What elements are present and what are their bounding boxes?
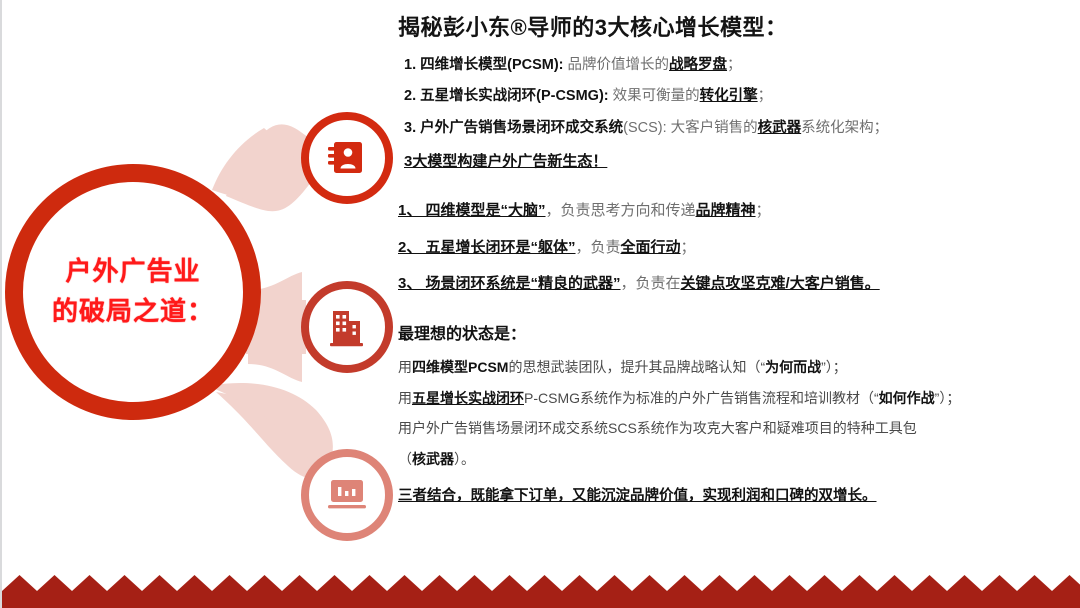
model-2-rest-a: 效果可衡量的 <box>609 88 700 104</box>
node-1-group <box>305 116 389 200</box>
final-statement: 三者结合，既能拿下订单，又能沉淀品牌价值，实现利润和口碑的双增长。 <box>398 484 877 505</box>
role-1-tail: ； <box>756 202 771 219</box>
ideal-2-p3: ”）； <box>935 390 961 406</box>
model-3-highlight: 核武器 <box>758 120 802 136</box>
hub-label: 户外广告业 的破局之道： <box>28 252 238 331</box>
scs-line-1: 用户外广告销售场景闭环成交系统SCS系统作为攻克大客户和疑难项目的特种工具包 <box>398 419 1070 439</box>
model-1-rest-a: 品牌价值增长的 <box>564 57 670 73</box>
role-1-mid: ，负责思考方向和传递 <box>546 202 696 219</box>
model-3-rest-b: 系统化架构； <box>801 120 888 136</box>
ideal-2-p1: 用 <box>398 390 412 406</box>
model-3-rest-a: : 大客户销售的 <box>663 120 758 136</box>
role-2-tail: ； <box>681 239 696 256</box>
ideal-1-p1: 用 <box>398 359 412 375</box>
role-2-lead: 2、 五星增长闭环是“躯体” <box>398 239 576 256</box>
model-item-1: 1. 四维增长模型(PCSM): 品牌价值增长的战略罗盘； <box>398 56 1070 76</box>
scs-2-post: ）。 <box>454 451 475 467</box>
ideal-2-p2: P-CSMG系统作为标准的户外广告销售流程和培训教材（“ <box>524 390 879 406</box>
ideal-line-1: 用四维模型PCSM的思想武装团队，提升其品牌战略认知（“为何而战”）； <box>398 358 1070 378</box>
role-3-mid: ，负责在 <box>621 275 681 292</box>
hub-label-line1: 户外广告业 <box>28 252 238 292</box>
ideal-state-title: 最理想的状态是： <box>398 320 1070 344</box>
role-3-lead: 3、 场景闭环系统是“精良的武器” <box>398 275 621 292</box>
scs-2-bold: 核武器 <box>412 451 454 467</box>
zigzag-fill <box>2 566 1080 608</box>
role-2-mid: ，负责 <box>576 239 621 256</box>
node-3-group <box>305 453 389 537</box>
role-item-2: 2、 五星增长闭环是“躯体”，负责全面行动； <box>398 238 1070 258</box>
diagram-graphic: 户外广告业 的破局之道： <box>2 0 402 580</box>
model-2-rest-b: ； <box>758 88 773 104</box>
role-item-3: 3、 场景闭环系统是“精良的武器”，负责在关键点攻坚克难/大客户销售。 <box>398 274 1070 294</box>
ideal-1-p3: ”）； <box>821 359 847 375</box>
role-item-1: 1、 四维模型是“大脑”，负责思考方向和传递品牌精神； <box>398 201 1070 221</box>
model-3-lead-tail: (SCS) <box>623 120 662 136</box>
model-item-3: 3. 户外广告销售场景闭环成交系统(SCS): 大客户销售的核武器系统化架构； <box>398 119 1070 139</box>
model-2-lead: 2. 五星增长实战闭环(P-CSMG): <box>404 88 609 104</box>
page-title: 揭秘彭小东®导师的3大核心增长模型： <box>398 14 1070 43</box>
ideal-1-s1: 四维模型PCSM <box>412 359 508 375</box>
role-1-lead: 1、 四维模型是“大脑” <box>398 202 546 219</box>
tagline: 3大模型构建户外广告新生态！ <box>398 150 607 171</box>
hub-label-line2: 的破局之道： <box>28 292 238 332</box>
zigzag-border <box>2 566 1080 608</box>
ideal-1-p2: 的思想武装团队，提升其品牌战略认知（“ <box>508 359 765 375</box>
model-1-rest-b: ； <box>727 57 742 73</box>
model-2-highlight: 转化引擎 <box>700 88 758 104</box>
model-3-lead: 3. 户外广告销售场景闭环成交系统 <box>404 120 623 136</box>
content-column: 揭秘彭小东®导师的3大核心增长模型： 1. 四维增长模型(PCSM): 品牌价值… <box>398 14 1070 505</box>
role-1-highlight: 品牌精神 <box>696 202 756 219</box>
ideal-2-s2: 如何作战 <box>879 390 935 406</box>
node-2-group <box>305 285 389 369</box>
role-3-highlight: 关键点攻坚克难/大客户销售。 <box>681 275 880 292</box>
role-2-highlight: 全面行动 <box>621 239 681 256</box>
scs-line-2: （核武器）。 <box>398 450 1070 470</box>
ideal-1-s2: 为何而战 <box>765 359 821 375</box>
model-1-lead: 1. 四维增长模型(PCSM): <box>404 57 564 73</box>
ideal-line-2: 用五星增长实战闭环P-CSMG系统作为标准的户外广告销售流程和培训教材（“如何作… <box>398 389 1070 409</box>
model-item-2: 2. 五星增长实战闭环(P-CSMG): 效果可衡量的转化引擎； <box>398 87 1070 107</box>
ideal-2-s1: 五星增长实战闭环 <box>412 390 524 406</box>
model-1-highlight: 战略罗盘 <box>669 57 727 73</box>
slide-canvas: 户外广告业 的破局之道： 揭秘彭小东®导师的3大核心增长模型： 1. 四维增长模… <box>0 0 1080 608</box>
scs-2-pre: （ <box>398 451 412 467</box>
